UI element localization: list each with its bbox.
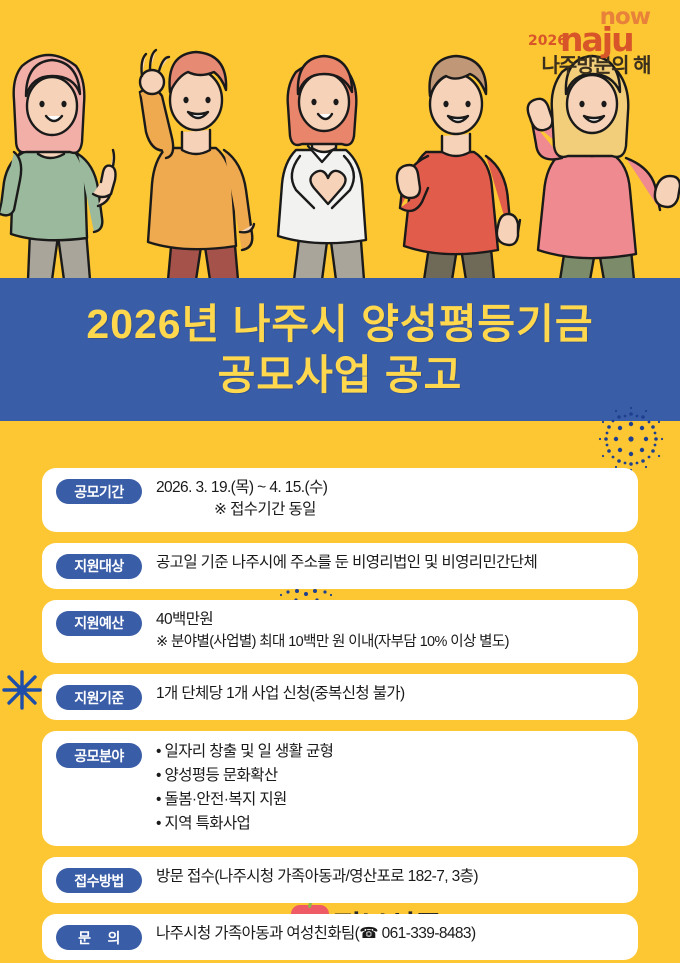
- row-body-budget: 40백만원 ※ 분야별(사업별) 최대 10백만 원 이내(자부담 10% 이상…: [142, 609, 624, 653]
- row-contact: 문 의 나주시청 가족아동과 여성친화팀(☎ 061-339-8483): [42, 914, 638, 960]
- row-budget: 지원예산 40백만원 ※ 분야별(사업별) 최대 10백만 원 이내(자부담 1…: [42, 600, 638, 663]
- sparkle-decoration-1: [0, 664, 48, 716]
- budget-value: 40백만원: [156, 609, 624, 631]
- naju-brand-logo: now 2026 naju 나주방문의 해: [526, 6, 666, 82]
- poster: now 2026 naju 나주방문의 해 2026년 나주시 양성평등기금 공…: [0, 0, 680, 963]
- row-criteria: 지원기준 1개 단체당 1개 사업 신청(중복신청 불가): [42, 674, 638, 720]
- row-label-contact: 문 의: [56, 925, 142, 950]
- fields-bullet-list: 일자리 창출 및 일 생활 균형 양성평등 문화확산 돌봄·안전·복지 지원 지…: [156, 740, 624, 836]
- poster-title-line-1: 2026년 나주시 양성평등기금: [86, 302, 593, 346]
- row-body-eligibility: 공고일 기준 나주시에 주소를 둔 비영리법인 및 비영리민간단체: [142, 552, 624, 574]
- row-fields: 공모분야 일자리 창출 및 일 생활 균형 양성평등 문화확산 돌봄·안전·복지…: [42, 731, 638, 846]
- row-label-fields: 공모분야: [56, 743, 142, 768]
- row-label-application-period: 공모기간: [56, 479, 142, 504]
- poster-title-line-2: 공모사업 공고: [218, 353, 463, 397]
- budget-note: ※ 분야별(사업별) 최대 10백만 원 이내(자부담 10% 이상 별도): [156, 632, 624, 653]
- info-rows: 공모기간 2026. 3. 19.(목) ~ 4. 15.(수) ※ 접수기간 …: [42, 468, 638, 963]
- row-submission-method: 접수방법 방문 접수(나주시청 가족아동과/영산포로 182-7, 3층): [42, 857, 638, 903]
- row-eligibility: 지원대상 공고일 기준 나주시에 주소를 둔 비영리법인 및 비영리민간단체: [42, 543, 638, 589]
- field-item: 양성평등 문화확산: [156, 764, 624, 788]
- row-label-budget: 지원예산: [56, 611, 142, 636]
- application-period-value: 2026. 3. 19.(목) ~ 4. 15.(수): [156, 477, 624, 499]
- brand-naju-text: naju: [560, 23, 633, 56]
- row-body-application-period: 2026. 3. 19.(목) ~ 4. 15.(수) ※ 접수기간 동일: [142, 477, 624, 522]
- row-label-eligibility: 지원대상: [56, 554, 142, 579]
- field-item: 지역 특화사업: [156, 812, 624, 836]
- brand-subtitle: 나주방문의 해: [526, 56, 666, 76]
- field-item: 일자리 창출 및 일 생활 균형: [156, 740, 624, 764]
- row-body-contact: 나주시청 가족아동과 여성친화팀(☎ 061-339-8483): [142, 923, 624, 945]
- brand-middle-row: 2026 naju: [526, 25, 666, 55]
- row-label-submission-method: 접수방법: [56, 868, 142, 893]
- title-banner: 2026년 나주시 양성평등기금 공모사업 공고: [0, 278, 680, 421]
- row-body-criteria: 1개 단체당 1개 사업 신청(중복신청 불가): [142, 683, 624, 705]
- row-body-submission-method: 방문 접수(나주시청 가족아동과/영산포로 182-7, 3층): [142, 866, 624, 888]
- field-item: 돌봄·안전·복지 지원: [156, 788, 624, 812]
- application-period-note: ※ 접수기간 동일: [214, 499, 316, 521]
- row-body-fields: 일자리 창출 및 일 생활 균형 양성평등 문화확산 돌봄·안전·복지 지원 지…: [142, 740, 624, 836]
- row-application-period: 공모기간 2026. 3. 19.(목) ~ 4. 15.(수) ※ 접수기간 …: [42, 468, 638, 532]
- row-label-criteria: 지원기준: [56, 685, 142, 710]
